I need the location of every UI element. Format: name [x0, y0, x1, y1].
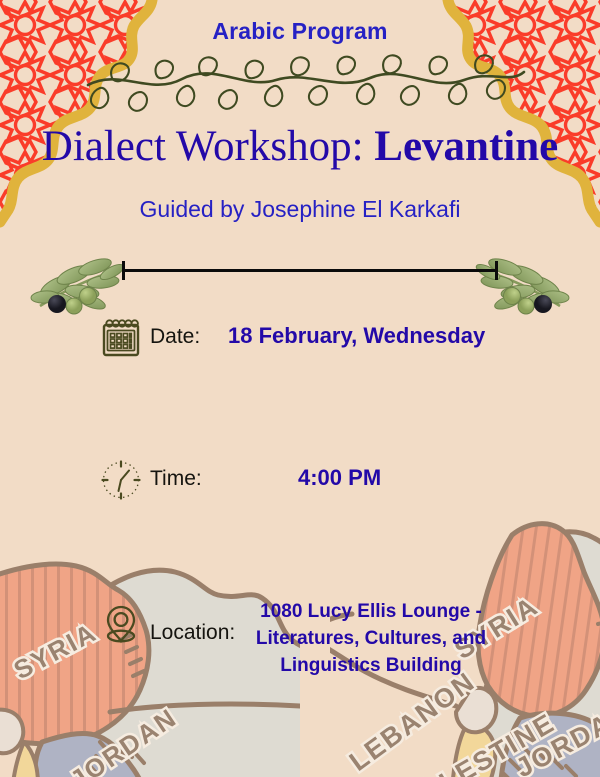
horizontal-rule-with-end-caps [0, 258, 600, 282]
title-prefix: Dialect Workshop: [42, 123, 375, 170]
page-subtitle: Guided by Josephine El Karkafi [0, 196, 600, 223]
content-layer: Arabic Program Dialect Workshop: Levanti… [0, 0, 600, 777]
program-kicker: Arabic Program [0, 18, 600, 45]
details-list: Date: 18 February, Wednesday [0, 315, 600, 495]
poster-canvas: SYRIA JORDAN [0, 0, 600, 777]
clock-icon [98, 457, 144, 503]
detail-row-date: Date: 18 February, Wednesday [0, 315, 600, 375]
rule-cap-right [495, 261, 498, 280]
date-label: Date: [150, 325, 200, 349]
page-title: Dialect Workshop: Levantine [0, 122, 600, 171]
date-value: 18 February, Wednesday [228, 323, 485, 349]
detail-row-time: Time: 4:00 PM [0, 455, 600, 515]
location-label: Location: [150, 621, 235, 645]
title-emphasis: Levantine [374, 123, 558, 170]
time-label: Time: [150, 467, 202, 491]
calendar-icon [98, 316, 144, 362]
time-value: 4:00 PM [298, 465, 381, 491]
detail-row-location: Location: 1080 Lucy Ellis Lounge - Liter… [0, 599, 600, 659]
location-value: 1080 Lucy Ellis Lounge - Literatures, Cu… [246, 598, 496, 679]
map-pin-icon [98, 601, 144, 647]
rule-line [122, 269, 498, 272]
